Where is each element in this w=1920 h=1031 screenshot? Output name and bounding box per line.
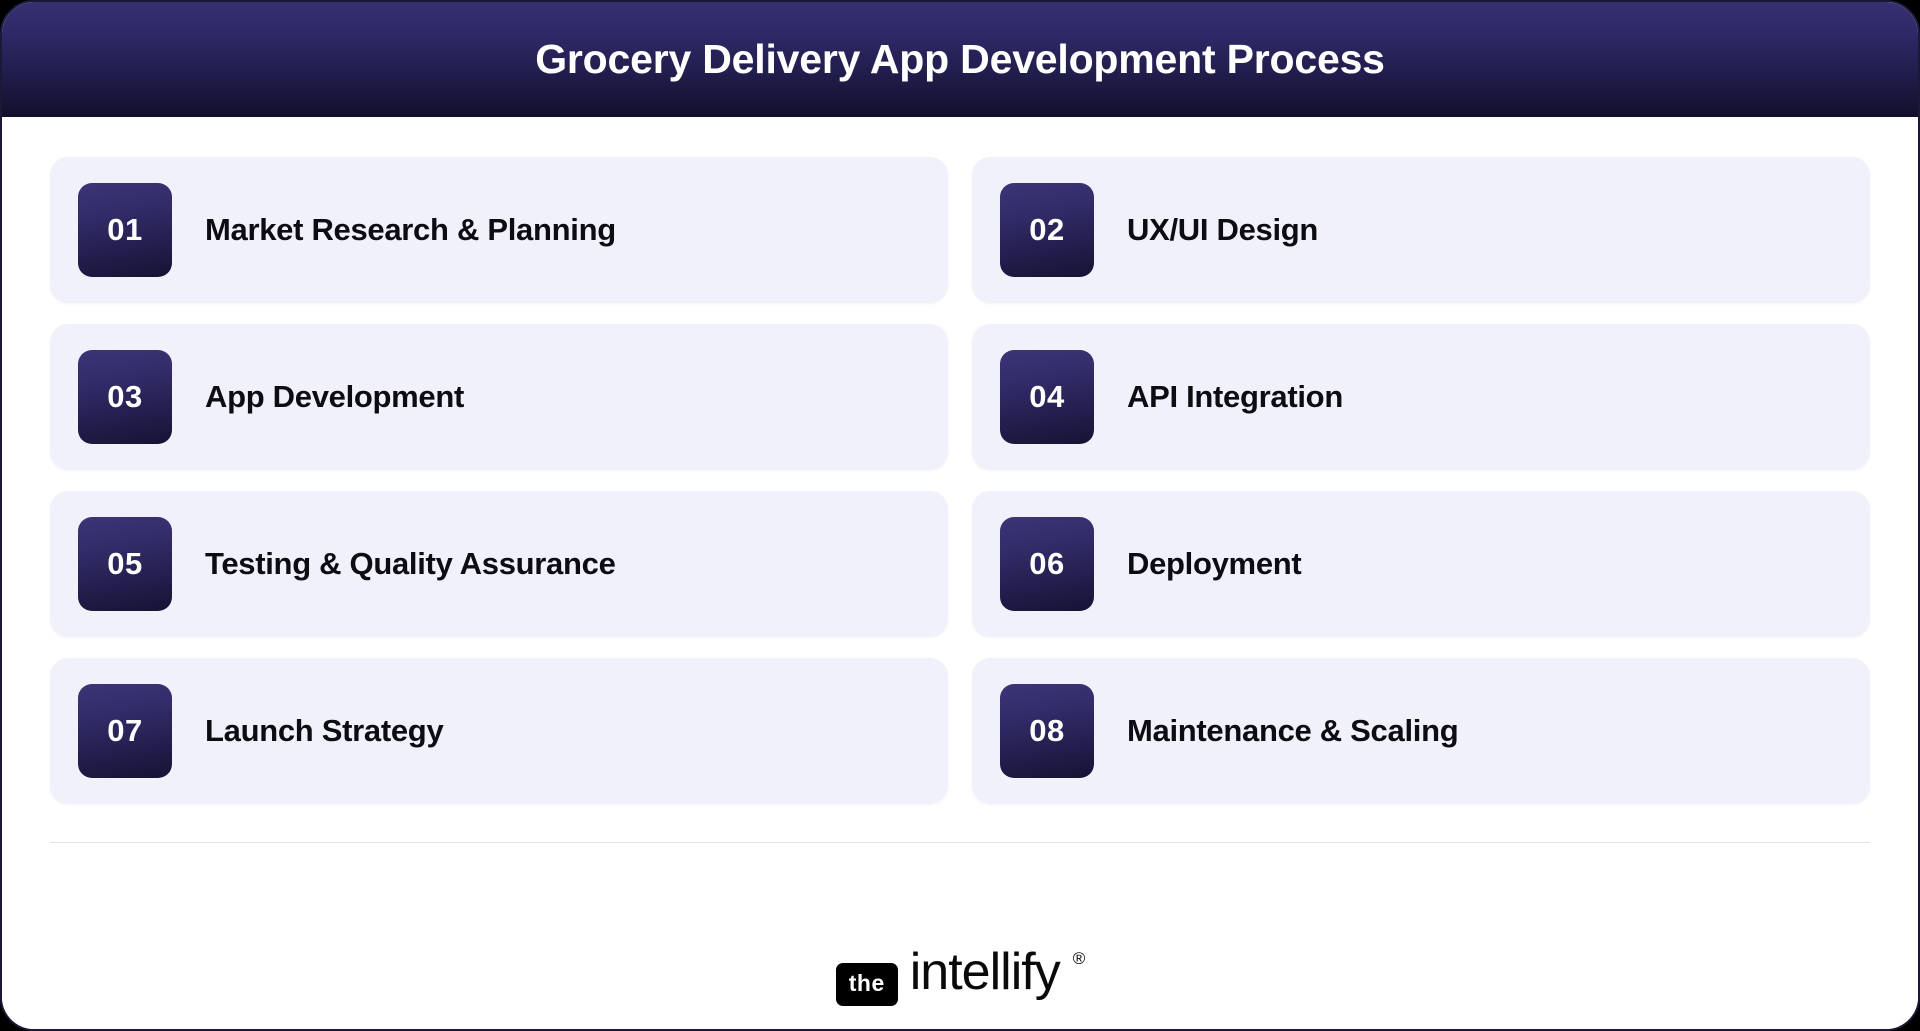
step-card[interactable]: 07 Launch Strategy [50,658,948,804]
step-card[interactable]: 02 UX/UI Design [972,157,1870,303]
steps-section: 01 Market Research & Planning 02 UX/UI D… [2,117,1918,915]
step-number-badge: 03 [78,350,172,444]
header-banner: Grocery Delivery App Development Process [2,2,1918,117]
infographic-container: Grocery Delivery App Development Process… [0,0,1920,1031]
step-card[interactable]: 08 Maintenance & Scaling [972,658,1870,804]
step-label: Deployment [1127,546,1301,582]
step-card[interactable]: 03 App Development [50,324,948,470]
step-label: Launch Strategy [205,713,443,749]
step-card[interactable]: 05 Testing & Quality Assurance [50,491,948,637]
logo-the-badge: the [836,963,898,1006]
registered-trademark-icon: ® [1073,950,1086,967]
step-label: Maintenance & Scaling [1127,713,1458,749]
step-number-badge: 04 [1000,350,1094,444]
step-label: API Integration [1127,379,1343,415]
step-label: App Development [205,379,464,415]
step-number-badge: 02 [1000,183,1094,277]
intellify-logo: the intellify ® [836,946,1084,998]
footer: the intellify ® [2,915,1918,1029]
step-number-badge: 06 [1000,517,1094,611]
step-number-badge: 07 [78,684,172,778]
step-card[interactable]: 06 Deployment [972,491,1870,637]
steps-grid: 01 Market Research & Planning 02 UX/UI D… [50,157,1870,804]
step-label: UX/UI Design [1127,212,1318,248]
step-label: Market Research & Planning [205,212,616,248]
step-label: Testing & Quality Assurance [205,546,616,582]
step-card[interactable]: 04 API Integration [972,324,1870,470]
footer-divider [50,842,1870,843]
step-number-badge: 05 [78,517,172,611]
logo-wordmark: intellify [910,946,1060,998]
step-card[interactable]: 01 Market Research & Planning [50,157,948,303]
page-title: Grocery Delivery App Development Process [535,36,1385,83]
step-number-badge: 01 [78,183,172,277]
step-number-badge: 08 [1000,684,1094,778]
